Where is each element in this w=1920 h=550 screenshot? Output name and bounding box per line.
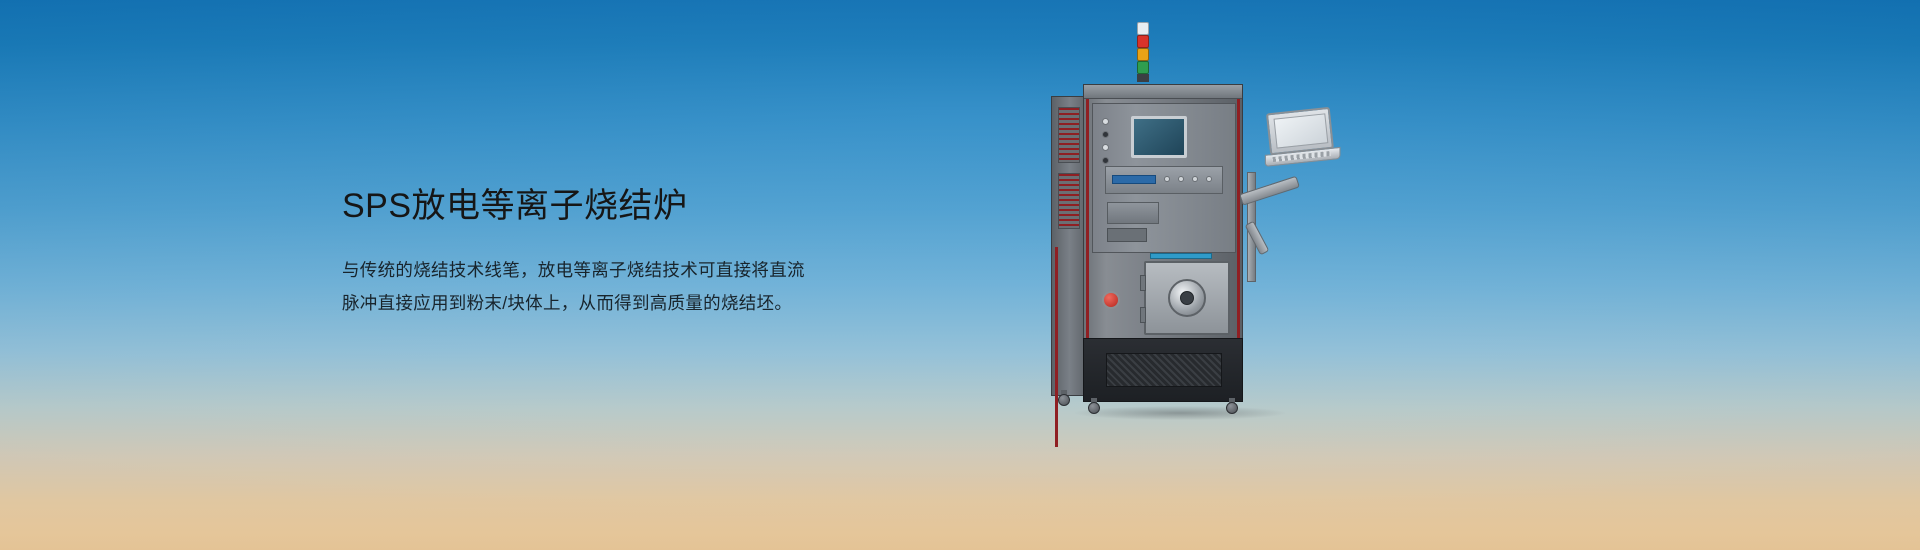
vent-grille-lower xyxy=(1058,173,1080,229)
caster-wheel xyxy=(1057,390,1071,406)
side-cabinet xyxy=(1051,96,1085,396)
knob-cluster xyxy=(1102,118,1109,170)
chamber-viewport xyxy=(1168,279,1206,317)
machine-shadow xyxy=(1075,406,1285,420)
lower-grille xyxy=(1106,353,1222,387)
hmi-display xyxy=(1131,116,1187,158)
control-panel-upper xyxy=(1092,103,1236,253)
vacuum-chamber-door xyxy=(1144,261,1230,335)
banner-description: 与传统的烧结技术线笔，放电等离子烧结技术可直接将直流 脉冲直接应用到粉末/块体上… xyxy=(342,254,862,320)
description-line-2: 脉冲直接应用到粉末/块体上，从而得到高质量的烧结坯。 xyxy=(342,287,862,320)
caster-wheel xyxy=(1225,398,1239,414)
sub-control-panel xyxy=(1105,166,1223,194)
panel-indicator-strip xyxy=(1112,175,1156,184)
chamber-accent-bar xyxy=(1150,253,1212,259)
signal-tower-light-icon xyxy=(1137,22,1149,84)
laptop-screen xyxy=(1274,113,1329,148)
caster-wheel xyxy=(1087,398,1101,414)
panel-plate xyxy=(1107,202,1159,224)
emergency-stop-icon xyxy=(1102,291,1120,309)
control-laptop xyxy=(1260,106,1342,176)
banner-text-block: SPS放电等离子烧结炉 与传统的烧结技术线笔，放电等离子烧结技术可直接将直流 脉… xyxy=(342,184,862,320)
accent-stripe xyxy=(1055,247,1058,447)
banner-vignette xyxy=(0,0,1920,550)
product-image-sps-furnace xyxy=(1035,22,1365,422)
vent-grille-upper xyxy=(1058,107,1080,163)
hero-banner: SPS放电等离子烧结炉 与传统的烧结技术线笔，放电等离子烧结技术可直接将直流 脉… xyxy=(0,0,1920,550)
description-line-1: 与传统的烧结技术线笔，放电等离子烧结技术可直接将直流 xyxy=(342,254,862,287)
page-title: SPS放电等离子烧结炉 xyxy=(342,184,862,228)
panel-plate-small xyxy=(1107,228,1147,242)
cabinet-top-bar xyxy=(1084,85,1242,99)
lower-body xyxy=(1083,338,1243,402)
